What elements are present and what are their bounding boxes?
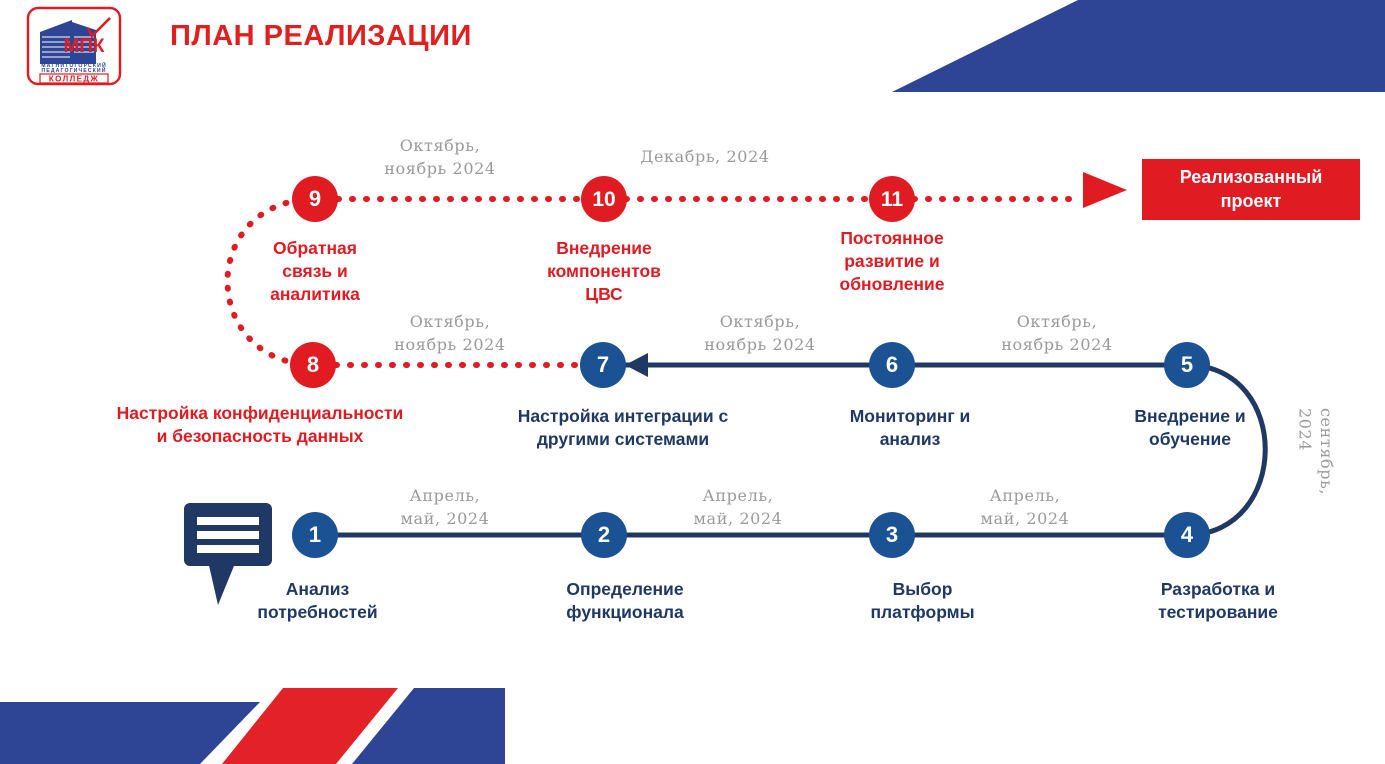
date-step-3: Апрель, май, 2024	[925, 484, 1125, 530]
date-step-7: Октябрь, ноябрь 2024	[660, 310, 860, 356]
page-title: ПЛАН РЕАЛИЗАЦИИ	[170, 20, 472, 53]
step-node-8[interactable]: 8	[290, 342, 336, 388]
step-node-7[interactable]: 7	[580, 342, 626, 388]
date-step-9: Октябрь, ноябрь 2024	[340, 134, 540, 180]
step-node-2[interactable]: 2	[581, 512, 627, 558]
date-step-4: сентябрь, 2024	[1294, 408, 1337, 518]
arrow-right-icon	[1083, 172, 1127, 208]
svg-text:ПЕДАГОГИЧЕСКИЙ: ПЕДАГОГИЧЕСКИЙ	[41, 66, 106, 74]
step-node-9[interactable]: 9	[292, 176, 338, 222]
step-node-5[interactable]: 5	[1164, 342, 1210, 388]
step-node-6[interactable]: 6	[869, 342, 915, 388]
step-label-10: Внедрение компонентов ЦВС	[514, 237, 694, 306]
college-logo: МПК МАГНИТОГОРСКИЙ ПЕДАГОГИЧЕСКИЙ КОЛЛЕД…	[26, 6, 122, 86]
step-label-7: Настройка интеграции с другими системами	[468, 405, 778, 451]
slide-canvas: МПК МАГНИТОГОРСКИЙ ПЕДАГОГИЧЕСКИЙ КОЛЛЕД…	[0, 0, 1385, 764]
step-label-8: Настройка конфиденциальности и безопасно…	[60, 402, 460, 448]
date-step-8: Октябрь, ноябрь 2024	[350, 310, 550, 356]
step-label-11: Постоянное развитие и обновление	[802, 227, 982, 296]
step-label-1: Анализ потребностей	[225, 578, 410, 624]
step-label-4: Разработка и тестирование	[1118, 578, 1318, 624]
step-node-10[interactable]: 10	[581, 176, 627, 222]
decorative-stripes-top-right	[880, 0, 1385, 92]
date-step-10: Декабрь, 2024	[560, 145, 850, 168]
step-node-3[interactable]: 3	[869, 512, 915, 558]
step-label-2: Определение функционала	[530, 578, 720, 624]
step-label-9: Обратная связь и аналитика	[225, 237, 405, 306]
decorative-stripes-bottom-left	[0, 672, 505, 764]
logo-monogram: МПК	[63, 36, 104, 57]
step-node-11[interactable]: 11	[869, 176, 915, 222]
date-step-6: Октябрь, ноябрь 2024	[952, 310, 1162, 356]
step-label-3: Выбор платформы	[830, 578, 1015, 624]
result-chip[interactable]: Реализованный проект	[1142, 159, 1360, 220]
step-node-1[interactable]: 1	[292, 512, 338, 558]
arrow-left-icon	[625, 353, 648, 377]
step-node-4[interactable]: 4	[1164, 512, 1210, 558]
date-step-2: Апрель, май, 2024	[638, 484, 838, 530]
date-step-1: Апрель, май, 2024	[345, 484, 545, 530]
step-label-5: Внедрение и обучение	[1100, 405, 1280, 451]
svg-text:КОЛЛЕДЖ: КОЛЛЕДЖ	[49, 75, 99, 84]
step-label-6: Мониторинг и анализ	[810, 405, 1010, 451]
